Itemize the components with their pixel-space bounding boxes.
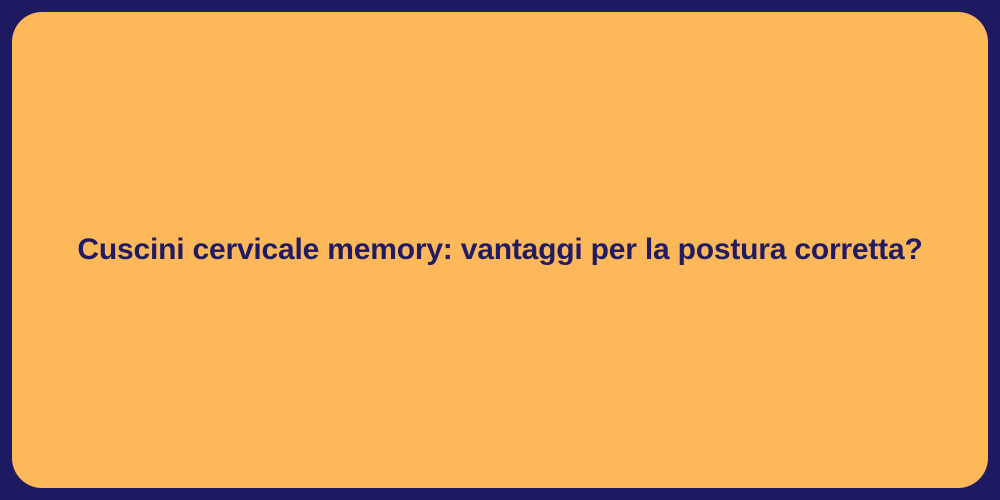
content-card: Cuscini cervicale memory: vantaggi per l… [12, 12, 988, 488]
page-background: Cuscini cervicale memory: vantaggi per l… [0, 0, 1000, 500]
page-title: Cuscini cervicale memory: vantaggi per l… [49, 231, 950, 269]
